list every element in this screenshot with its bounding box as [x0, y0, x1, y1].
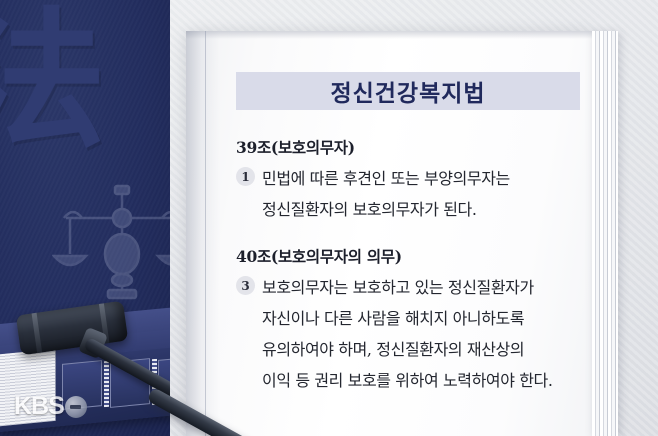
- page-top-shadow: [186, 31, 618, 39]
- kbs-logo-text: KBS: [14, 392, 64, 421]
- clause-number-badge: 3: [236, 276, 255, 295]
- book-gutter-line: [205, 31, 206, 436]
- hanja-law-character: 法: [0, 6, 102, 156]
- article-spacer: [236, 231, 588, 245]
- law-text-body: 39조(보호의무자) 1 민법에 따른 후견인 또는 부양의무자는 정신질환자의…: [236, 136, 588, 402]
- stacked-page-edges: [592, 31, 618, 436]
- clause-line: 자신이나 다른 사람을 해치지 아니하도록: [262, 303, 553, 334]
- clause-line: 이익 등 권리 보호를 위하여 노력하여야 한다.: [262, 365, 553, 396]
- screenshot-stage: 法: [0, 0, 658, 436]
- article-block: 39조(보호의무자) 1 민법에 따른 후견인 또는 부양의무자는 정신질환자의…: [236, 136, 588, 225]
- clause-text: 보호의무자는 보호하고 있는 정신질환자가 자신이나 다른 사람을 해치지 아니…: [262, 272, 553, 396]
- clause-row: 3 보호의무자는 보호하고 있는 정신질환자가 자신이나 다른 사람을 해치지 …: [236, 272, 588, 396]
- page-title: 정신건강복지법: [330, 74, 485, 108]
- kbs-watermark: KBS: [14, 392, 87, 421]
- article-heading: 39조(보호의무자): [236, 136, 588, 158]
- clause-line: 민법에 따른 후견인 또는 부양의무자는: [262, 163, 510, 194]
- left-navy-panel: 法: [0, 0, 172, 436]
- clause-number-badge: 1: [236, 167, 255, 186]
- scales-of-justice-icon: [52, 176, 172, 306]
- clause-line: 정신질환자의 보호의무자가 된다.: [262, 194, 510, 225]
- clause-line: 보호의무자는 보호하고 있는 정신질환자가: [262, 272, 553, 303]
- book-cover-ornament: [104, 361, 109, 407]
- article-block: 40조(보호의무자의 의무) 3 보호의무자는 보호하고 있는 정신질환자가 자…: [236, 245, 588, 396]
- kbs-badge-icon: [65, 396, 87, 418]
- book-gutter-shadow: [186, 31, 220, 436]
- clause-text: 민법에 따른 후견인 또는 부양의무자는 정신질환자의 보호의무자가 된다.: [262, 163, 510, 225]
- clause-line: 유의하여야 하며, 정신질환자의 재산상의: [262, 334, 553, 365]
- gavel-band: [32, 313, 43, 353]
- article-heading: 40조(보호의무자의 의무): [236, 245, 588, 267]
- document-title-banner: 정신건강복지법: [236, 72, 580, 110]
- clause-row: 1 민법에 따른 후견인 또는 부양의무자는 정신질환자의 보호의무자가 된다.: [236, 163, 588, 225]
